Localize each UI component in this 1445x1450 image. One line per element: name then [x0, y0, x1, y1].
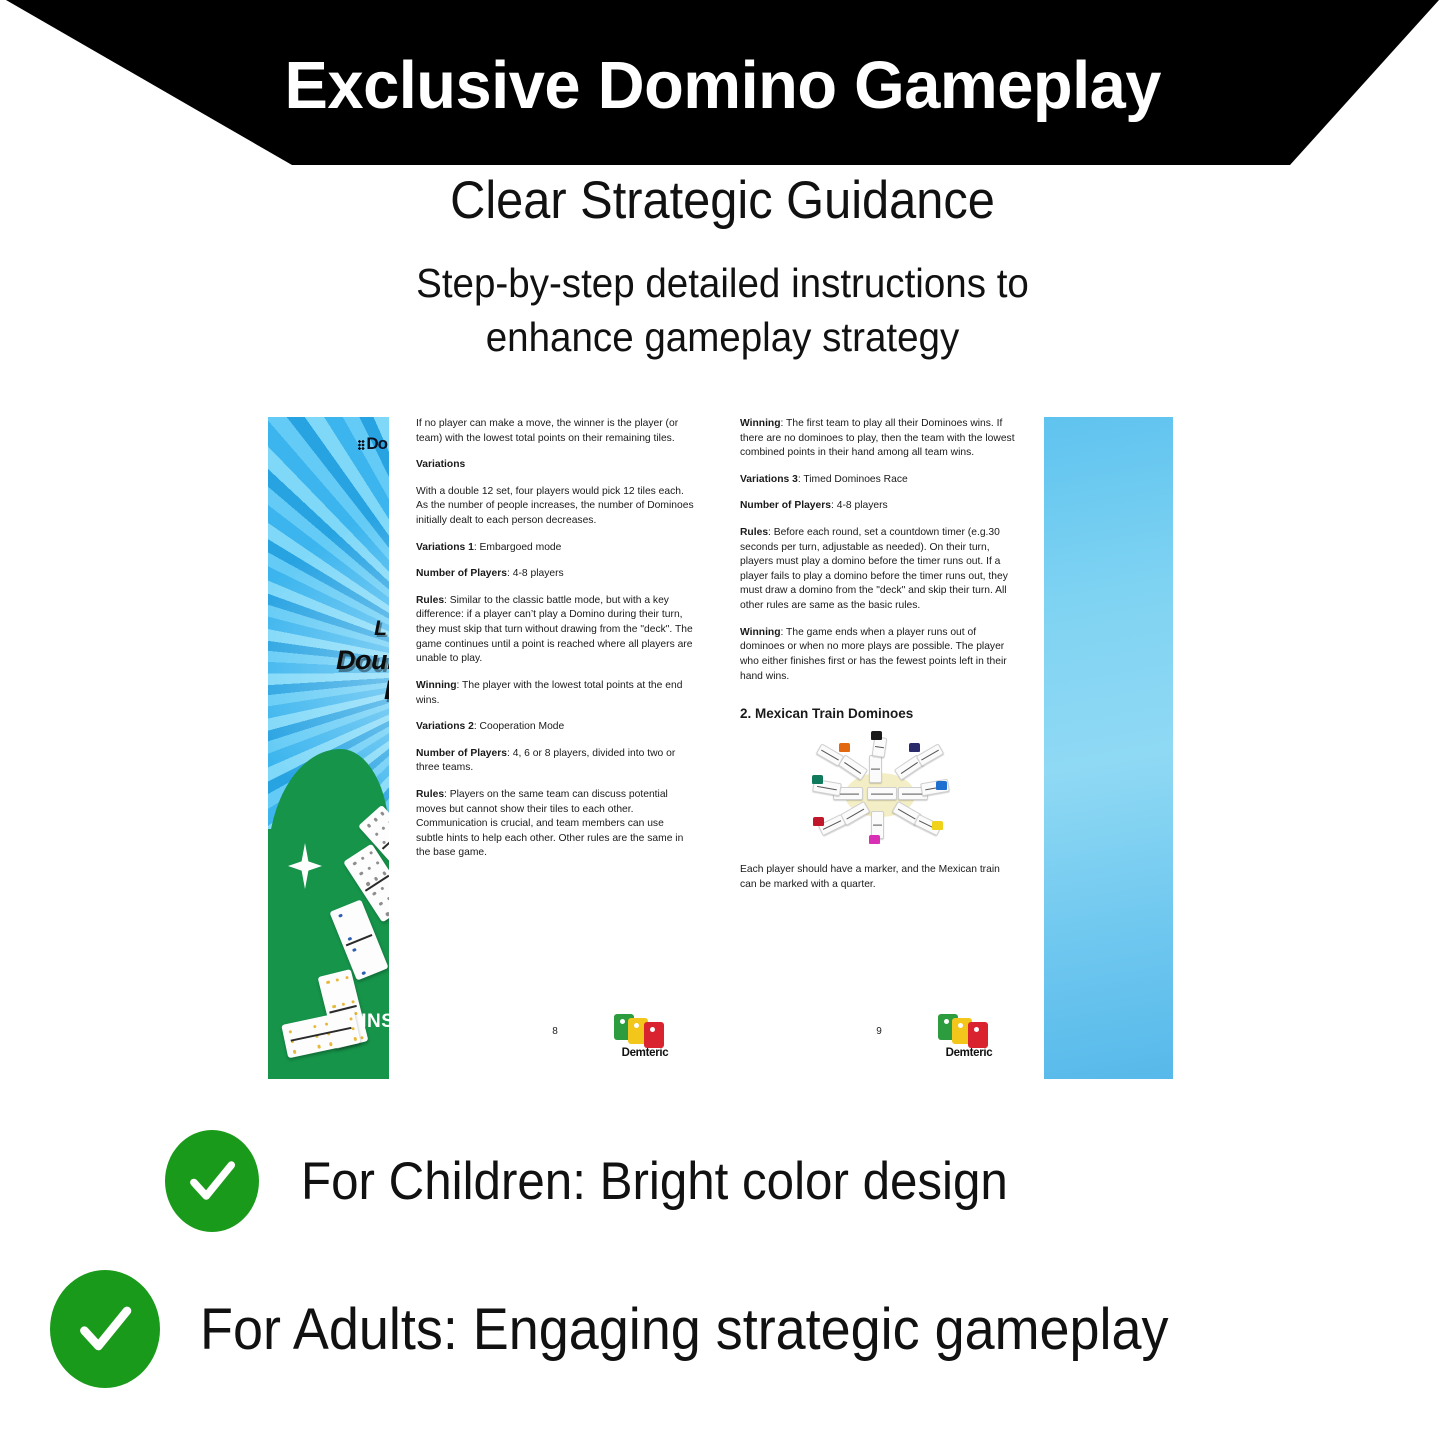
- train-marker: [936, 781, 947, 790]
- train-marker: [839, 743, 850, 752]
- domino-tile: [869, 755, 882, 783]
- domino-pip: [366, 882, 371, 887]
- domino-pip: [380, 811, 385, 816]
- paragraph: If no player can make a move, the winner…: [416, 417, 694, 446]
- domino-pip: [288, 1030, 292, 1034]
- logo-tile-red: [644, 1022, 664, 1048]
- cover-footer-text: INSTRU: [361, 1011, 389, 1033]
- train-marker: [871, 731, 882, 740]
- paragraph-label: Variations 3: [740, 474, 798, 485]
- paragraph-text: : Before each round, set a countdown tim…: [740, 527, 1008, 611]
- paragraph: Rules: Similar to the classic battle mod…: [416, 594, 694, 667]
- domino-pip: [362, 971, 366, 975]
- paragraph: Rules: Before each round, set a countdow…: [740, 526, 1018, 614]
- paragraph-label: Rules: [416, 789, 444, 800]
- domino-pip: [326, 980, 330, 984]
- paragraph-heading: Variations: [416, 458, 694, 473]
- paragraph-text: : Cooperation Mode: [474, 721, 564, 732]
- paragraph-text: : Embargoed mode: [474, 542, 562, 553]
- domino-pip: [291, 1040, 295, 1044]
- domino-pip: [325, 1022, 329, 1026]
- domino-pip: [372, 891, 377, 896]
- domino-pip: [349, 1017, 353, 1021]
- cover-title-line-2: Doub: [336, 645, 389, 676]
- domino-pip: [387, 896, 389, 901]
- domino-pip: [317, 1044, 321, 1048]
- domino-pip: [375, 861, 380, 866]
- domino-tile: [916, 744, 945, 767]
- paragraph: Winning: The game ends when a player run…: [740, 626, 1018, 684]
- cover-logo-text: Do: [366, 434, 387, 453]
- paragraph: Rules: Players on the same team can disc…: [416, 788, 694, 861]
- paragraph-label: Number of Players: [416, 748, 507, 759]
- train-marker: [813, 817, 824, 826]
- headline-title: Clear Strategic Guidance: [58, 172, 1387, 230]
- domino-pip: [388, 881, 389, 886]
- document-page-right: Winning: The first team to play all thei…: [740, 417, 1018, 1079]
- paragraph: Variations 3: Timed Dominoes Race: [740, 473, 1018, 488]
- paragraph-label: Winning: [740, 418, 781, 429]
- logo-tile-red: [968, 1022, 988, 1048]
- checkmark-glyph: [183, 1152, 241, 1210]
- train-marker: [869, 835, 880, 844]
- domino-pip: [329, 1042, 333, 1046]
- book-cover-panel: Do L Doub Do INSTRU: [268, 417, 389, 1079]
- domino-pip: [352, 948, 356, 952]
- paragraph-label: Variations: [416, 459, 465, 470]
- domino-pip: [335, 978, 339, 982]
- paragraph-text: : The player with the lowest total point…: [416, 680, 682, 706]
- paragraph: Number of Players: 4-8 players: [740, 499, 1018, 514]
- feature-bullets: For Children: Bright color design For Ad…: [0, 1130, 1445, 1388]
- domino-pip: [361, 856, 366, 861]
- cover-title-line-3: Do: [384, 675, 389, 706]
- logo-tiles-icon: [938, 1014, 1000, 1044]
- cover-title-line-1: L: [374, 617, 387, 641]
- domino-pip: [385, 912, 389, 917]
- checkmark-glyph: [72, 1296, 138, 1362]
- paragraph: Number of Players: 4, 6 or 8 players, di…: [416, 747, 694, 776]
- paragraph: Winning: The first team to play all thei…: [740, 417, 1018, 461]
- paragraph-text: : Players on the same team can discuss p…: [416, 789, 683, 858]
- section-heading: 2. Mexican Train Dominoes: [740, 704, 1018, 723]
- paragraph: With a double 12 set, four players would…: [416, 485, 694, 529]
- bullet-row-adults: For Adults: Engaging strategic gameplay: [0, 1270, 1445, 1388]
- train-marker: [932, 821, 943, 830]
- illustration-caption: Each player should have a marker, and th…: [740, 863, 1018, 892]
- logo-tiles-icon: [614, 1014, 676, 1044]
- paragraph-label: Winning: [416, 680, 457, 691]
- headline-subtitle: Step-by-step detailed instructions to en…: [43, 256, 1401, 364]
- domino-pip: [369, 851, 374, 856]
- paragraph-label: Number of Players: [416, 568, 507, 579]
- domino-pip: [359, 871, 364, 876]
- paragraph-label: Rules: [740, 527, 768, 538]
- logo-dots-icon: [358, 440, 365, 450]
- domino-pip: [381, 825, 386, 830]
- domino-pip: [379, 901, 384, 906]
- domino-pip: [367, 823, 372, 828]
- domino-pip: [374, 876, 379, 881]
- paragraph-text: : Similar to the classic battle mode, bu…: [416, 595, 693, 664]
- document-page-left: If no player can make a move, the winner…: [416, 417, 694, 1079]
- bullet-label: For Adults: Engaging strategic gameplay: [200, 1296, 1168, 1363]
- domino-pip: [348, 937, 352, 941]
- paragraph-text: If no player can make a move, the winner…: [416, 418, 678, 444]
- paragraph: Variations 1: Embargoed mode: [416, 541, 694, 556]
- paragraph-label: Variations 1: [416, 542, 474, 553]
- headline-block: Clear Strategic Guidance Step-by-step de…: [0, 172, 1445, 365]
- blue-back-cover-panel: ok.com c: [1044, 417, 1173, 1079]
- domino-pip: [342, 1002, 346, 1006]
- domino-pip: [339, 913, 343, 917]
- domino-pip: [388, 834, 389, 839]
- paragraph-label: Variations 2: [416, 721, 474, 732]
- domino-pip: [367, 866, 372, 871]
- bullet-label: For Children: Bright color design: [301, 1151, 1008, 1212]
- domino-pip: [351, 1027, 355, 1031]
- paragraph-text: With a double 12 set, four players would…: [416, 486, 694, 526]
- domino-pip: [388, 819, 389, 824]
- paragraph-label: Number of Players: [740, 500, 831, 511]
- domino-pip: [382, 871, 387, 876]
- domino-pip: [353, 861, 358, 866]
- caption-text: Each player should have a marker, and th…: [740, 864, 1000, 890]
- paragraph: Number of Players: 4-8 players: [416, 567, 694, 582]
- check-circle-icon: [50, 1270, 160, 1388]
- paragraph-text: : Timed Dominoes Race: [798, 474, 908, 485]
- domino-pip: [374, 831, 379, 836]
- subtitle-line-2: enhance gameplay strategy: [43, 310, 1401, 364]
- paragraph: Winning: The player with the lowest tota…: [416, 679, 694, 708]
- header-banner: Exclusive Domino Gameplay: [0, 0, 1445, 165]
- domino-pip: [327, 1032, 331, 1036]
- train-marker: [812, 775, 823, 784]
- document-strip: Do L Doub Do INSTRU If no player can mak…: [268, 417, 1173, 1079]
- domino-pip: [293, 1050, 297, 1054]
- cover-brand-logo: Do: [358, 434, 387, 454]
- train-marker: [909, 743, 920, 752]
- domino-pip: [380, 886, 385, 891]
- paragraph-label: Rules: [416, 595, 444, 606]
- domino-pip: [351, 1000, 355, 1004]
- domino-tile: [867, 787, 897, 800]
- domino-pip: [313, 1025, 317, 1029]
- footer-brand-logo: Demteric: [602, 1014, 688, 1061]
- domino-pip: [382, 840, 387, 845]
- domino-pip: [345, 976, 349, 980]
- domino-pip: [315, 1035, 319, 1039]
- bullet-row-children: For Children: Bright color design: [0, 1130, 1445, 1232]
- domino-pip: [332, 1005, 336, 1009]
- promo-page: Exclusive Domino Gameplay Clear Strategi…: [0, 0, 1445, 1450]
- paragraph-text: : The game ends when a player runs out o…: [740, 627, 1007, 682]
- domino-pip: [373, 817, 378, 822]
- mexican-train-illustration: [799, 739, 959, 845]
- footer-brand-logo: Demteric: [926, 1014, 1012, 1061]
- paragraph: Variations 2: Cooperation Mode: [416, 720, 694, 735]
- paragraph-text: : The first team to play all their Domin…: [740, 418, 1015, 458]
- paragraph-label: Winning: [740, 627, 781, 638]
- paragraph-text: : 4-8 players: [507, 568, 564, 579]
- banner-title: Exclusive Domino Gameplay: [284, 52, 1160, 119]
- subtitle-line-1: Step-by-step detailed instructions to: [43, 256, 1401, 310]
- check-circle-icon: [165, 1130, 259, 1232]
- domino-pip: [354, 1037, 358, 1041]
- paragraph-text: : 4-8 players: [831, 500, 888, 511]
- domino-pip: [360, 1036, 364, 1040]
